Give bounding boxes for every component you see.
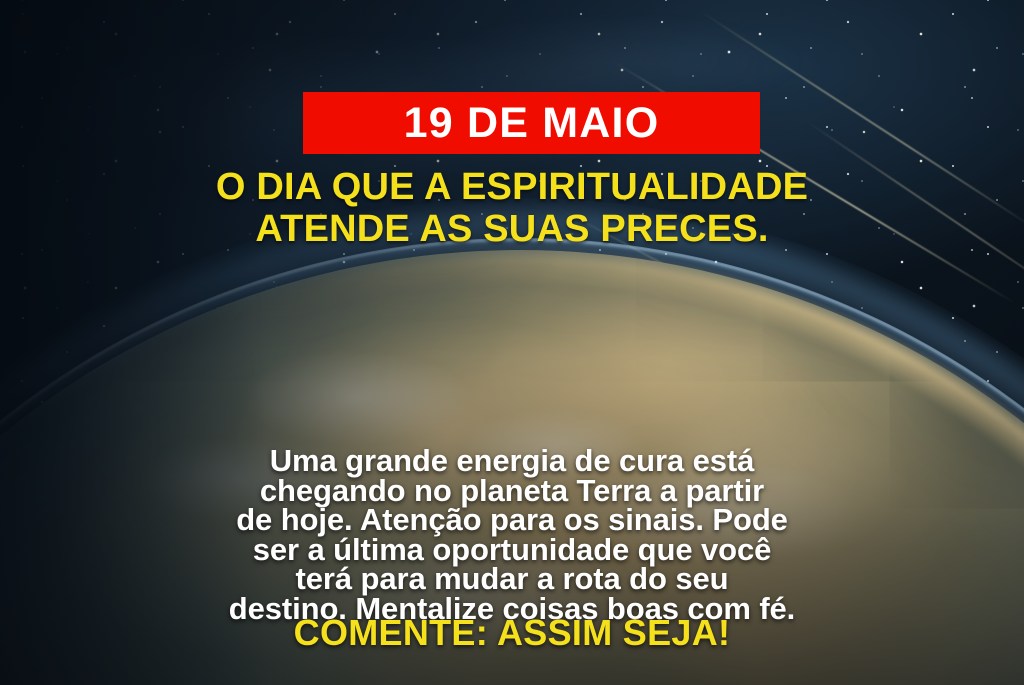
date-banner: 19 DE MAIO xyxy=(303,92,760,154)
call-to-action: COMENTE: ASSIM SEJA! xyxy=(0,613,1024,653)
body-line-2: chegando no planeta Terra a partir xyxy=(0,476,1024,506)
body-line-3: de hoje. Atenção para os sinais. Pode xyxy=(0,505,1024,535)
headline-line-1: O DIA QUE A ESPIRITUALIDADE xyxy=(0,166,1024,208)
headline: O DIA QUE A ESPIRITUALIDADE ATENDE AS SU… xyxy=(0,166,1024,250)
body-line-5: terá para mudar a rota do seu xyxy=(0,564,1024,594)
body-line-4: ser a última oportunidade que você xyxy=(0,535,1024,565)
text-overlay: 19 DE MAIO O DIA QUE A ESPIRITUALIDADE A… xyxy=(0,0,1024,685)
body-line-1: Uma grande energia de cura está xyxy=(0,446,1024,476)
poster-canvas: 19 DE MAIO O DIA QUE A ESPIRITUALIDADE A… xyxy=(0,0,1024,685)
headline-line-2: ATENDE AS SUAS PRECES. xyxy=(0,208,1024,250)
date-banner-label: 19 DE MAIO xyxy=(404,102,660,145)
body-copy: Uma grande energia de cura está chegando… xyxy=(0,446,1024,623)
